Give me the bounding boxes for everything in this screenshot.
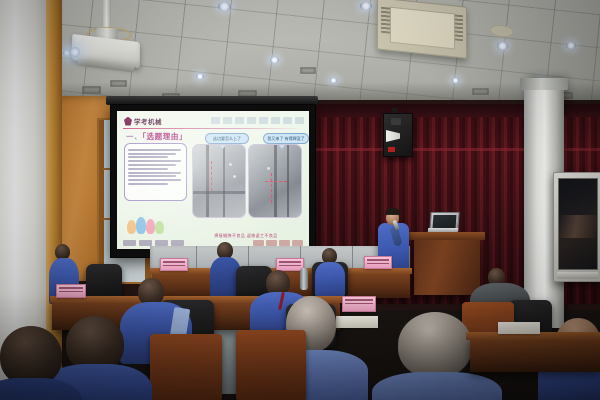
ac-louver-left: [381, 7, 390, 34]
speaker-horn-icon: [386, 130, 400, 142]
downlight-3: [497, 42, 508, 50]
projection-screen: 学考机械 一、「选题理由」: [110, 104, 316, 258]
slide-text-line: [128, 149, 181, 151]
podium-top: [409, 232, 485, 240]
photo-seam: [223, 145, 225, 217]
name-placard: [160, 258, 188, 271]
callout-tail: [220, 145, 226, 149]
ceiling-vent-5: [300, 67, 316, 74]
chair-wooden[interactable]: [236, 330, 306, 400]
slide-cartoon-figures: [125, 213, 169, 235]
audience-head: [0, 326, 62, 386]
slide-nav-chip: [223, 117, 232, 124]
slide-callout-left: 这边要怎么上了: [205, 133, 249, 144]
presenter-glasses-icon: [387, 214, 398, 218]
slide-text-line: [128, 175, 176, 177]
slide-nav-chip: [283, 117, 292, 124]
laptop-keyboard[interactable]: [428, 228, 458, 232]
photo-seam: [193, 191, 245, 194]
cartoon-figure: [155, 221, 164, 234]
downlight-2: [360, 2, 372, 10]
audience-torso: [372, 372, 502, 400]
slide-nav-chip: [259, 117, 268, 124]
tv-reflection: [559, 215, 597, 238]
slide-title-prefix: 一、: [126, 132, 142, 141]
annotation-dash: [271, 173, 272, 203]
table-row-right: [470, 338, 600, 372]
speaker-tweeter-port: [391, 118, 401, 125]
tv-bottom-bezel: [557, 272, 598, 279]
slide-text-line: [128, 168, 168, 170]
presentation-slide: 学考机械 一、「选题理由」: [117, 111, 309, 249]
photo-highlight: [267, 167, 270, 170]
wall-speaker: [383, 113, 413, 157]
projector-mount-pole: [103, 0, 111, 30]
slide-logo-text: 学考机械: [134, 116, 162, 126]
slide-text-line: [128, 164, 176, 166]
photo-highlight: [229, 163, 232, 166]
ac-panel: [390, 7, 455, 50]
cartoon-figure: [146, 219, 155, 234]
slide-text-line: [128, 183, 168, 185]
defect-photo-right: [248, 144, 302, 218]
name-placard: [342, 296, 376, 312]
photo-highlight: [233, 175, 236, 178]
slide-logo: 学考机械: [124, 116, 162, 126]
chair[interactable]: [86, 264, 122, 298]
slide-partner-logo: [123, 240, 136, 246]
wall-mounted-tv[interactable]: [553, 172, 600, 282]
company-logo-icon: [124, 117, 132, 126]
cartoon-figure: [136, 217, 146, 234]
conference-room-photo: 学考机械 一、「选题理由」: [0, 0, 600, 400]
right-column-capital: [520, 78, 568, 90]
slide-nav-chip: [211, 117, 220, 124]
speaker-brand-logo: [388, 147, 395, 152]
slide-text-line: [128, 153, 176, 155]
slide-title-text: 「选题理由」: [142, 132, 187, 141]
wooden-podium: [414, 237, 480, 295]
defect-photo-left: [192, 144, 246, 218]
slide-nav-chip: [247, 117, 256, 124]
notebook: [498, 322, 540, 334]
downlight-6: [566, 42, 576, 49]
name-placard: [364, 256, 392, 269]
audience-torso: [315, 262, 345, 296]
slide-nav-chip: [235, 117, 244, 124]
slide-footnote: 焊接缝隙不良品 返修返工不良品: [191, 233, 301, 239]
slide-nav-chip: [295, 117, 304, 124]
audience-head: [398, 312, 472, 378]
slide-text-line: [128, 156, 168, 158]
tv-screen: [558, 178, 598, 270]
cartoon-figure: [127, 220, 136, 234]
slide-text-line: [128, 160, 181, 162]
ceiling-air-conditioner: [377, 0, 467, 59]
photo-seam: [287, 145, 289, 217]
slide-title: 一、「选题理由」: [126, 131, 187, 142]
downlight-1: [218, 2, 231, 11]
ac-louver-right: [454, 14, 463, 41]
slide-divider: [123, 128, 303, 129]
annotation-dash: [265, 181, 287, 182]
slide-nav-chips: [211, 117, 304, 124]
laptop-screen: [433, 215, 457, 228]
thermos-flask: [300, 268, 308, 290]
callout-tail: [279, 145, 285, 149]
slide-callout-right: 我又来了 有得焊没了: [263, 133, 309, 144]
slide-textbox: [124, 143, 187, 201]
slide-text-line: [128, 172, 181, 174]
downlight-8: [196, 74, 204, 79]
chair-wooden[interactable]: [150, 334, 222, 400]
notebook: [330, 316, 378, 328]
name-placard: [56, 284, 86, 298]
projector-lens-icon: [70, 47, 80, 57]
photo-seam: [206, 145, 209, 217]
slide-nav-chip: [271, 117, 280, 124]
slide-text-line: [128, 179, 181, 181]
annotation-dash: [211, 161, 212, 191]
downlight-5: [270, 57, 279, 63]
